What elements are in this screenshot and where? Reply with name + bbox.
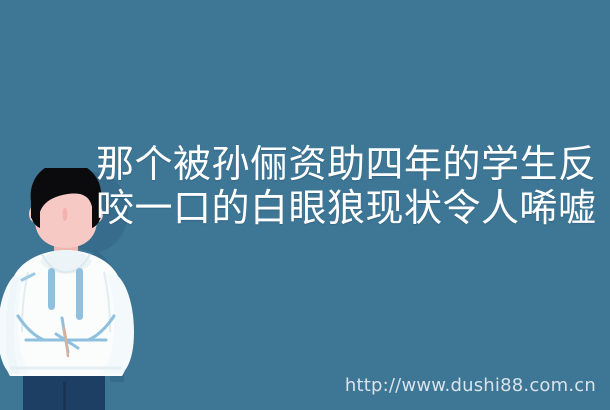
hoodie [0, 250, 134, 376]
drawstring-left [48, 268, 55, 310]
poster-canvas: 那个被孙俪资助四年的学生反咬一口的白眼狼现状令人唏嘘 http://www.du… [0, 0, 610, 410]
page-title: 那个被孙俪资助四年的学生反咬一口的白眼狼现状令人唏嘘 [96, 142, 602, 230]
drawstring-right [76, 268, 83, 320]
watermark-url: http://www.dushi88.com.cn [345, 375, 596, 396]
